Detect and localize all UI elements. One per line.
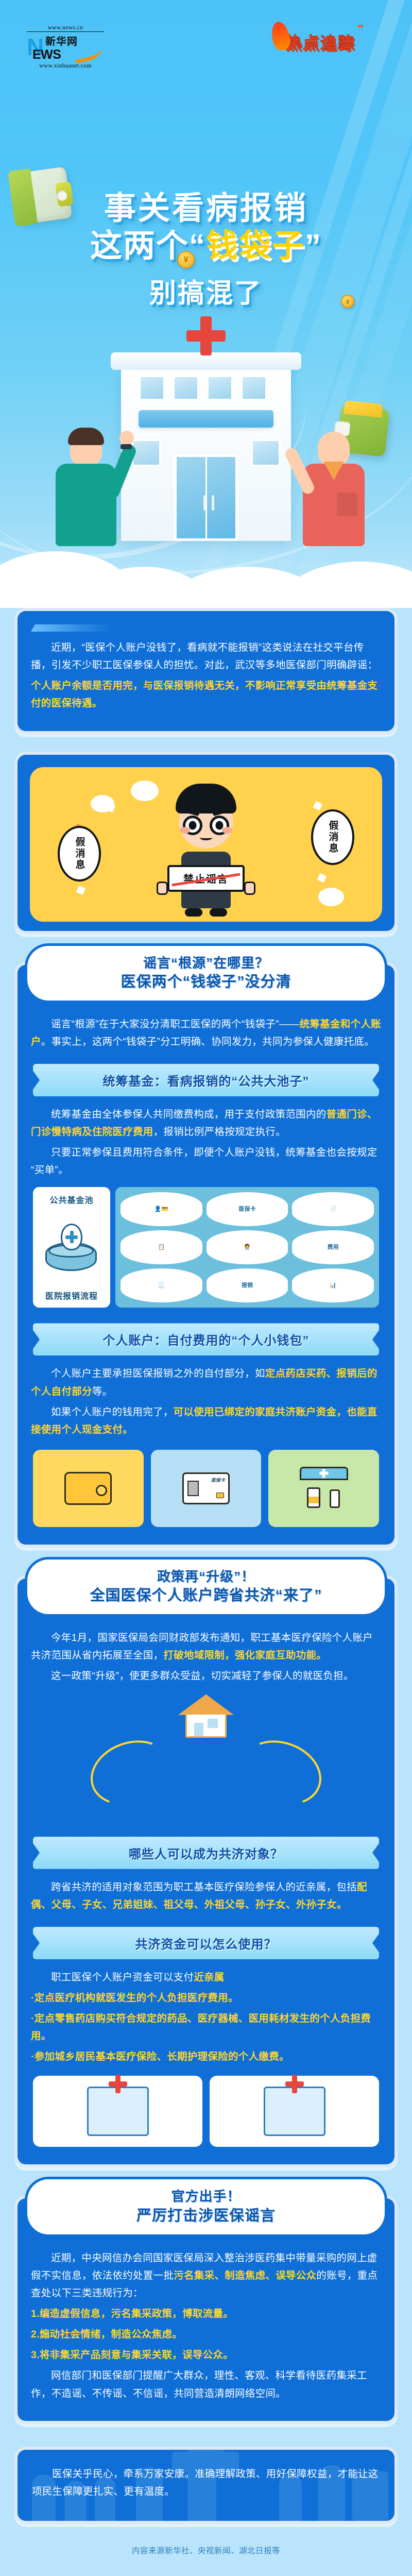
section-2-sub1-title: 哪些人可以成为共济对象？ [129, 1848, 283, 1861]
hero-title-line3: 别搞混了 [0, 272, 412, 310]
section-2-card: 政策再“升级”！ 全国医保个人账户跨省共济“来了” 今年1月，国家医保局会同财政… [14, 1575, 398, 2167]
hero-title-block: 事关看病报销 这两个“钱袋子” 别搞混了 [0, 191, 412, 310]
section-2-sub2-title: 共济资金可以怎么使用？ [135, 1938, 277, 1952]
logo-chinese-name: 新华网 [45, 33, 78, 48]
hero-quote-close: ” [305, 228, 322, 264]
section-1-heading-line2: 医保两个“钱袋子”没分清 [37, 972, 375, 992]
section-2-sub2-ribbon: 共济资金可以怎么使用？ [33, 1927, 379, 1959]
rumor-illustration-card: 假消息 假消息 [14, 752, 398, 934]
sub2-p1-a: 个人账户主要承担医保报销之外的自付部分，如 [51, 1368, 265, 1379]
pool-label-bottom: 医院报销流程 [45, 1289, 98, 1301]
hot-topic-label: 热点追踪 [285, 30, 355, 53]
intro-card: 近期，“医保个人账户没钱了，看病就不能报销”这类说法在社交平台传播，引发不少职工… [14, 608, 398, 734]
hero-quote-open: “ [189, 228, 206, 264]
logo-letters-ews: EWS [32, 47, 61, 62]
hospital-box-icon [33, 2076, 202, 2147]
section-3-heading: 官方出手！ 严厉打击涉医保谣言 [25, 2177, 387, 2236]
hero-title-line1: 事关看病报销 [0, 191, 412, 226]
tile-card-label: 医保卡 [211, 1477, 225, 1483]
sub2-p2-a: 如果个人账户的钱用完了， [51, 1406, 174, 1418]
section-2-sub2-item-2: ·定点零售药店购买符合规定的药品、医疗器械、医用耗材发生的个人负担费用。 [31, 2010, 381, 2045]
no-rumor-sign: 禁止谣言 [167, 865, 245, 892]
subsection-2-title: 个人账户：自付费用的“个人小钱包” [103, 1334, 310, 1348]
hero-banner: www.news.cn N 新华网 EWS www.xinhuanet.com … [0, 0, 412, 608]
exchange-arrows-icon [33, 1739, 379, 1801]
reimbursement-icon-grid: 👤💳 医保卡 📄 📋 🧑‍⚕️ 费用 🧾 报销 📊 [115, 1187, 379, 1308]
section-3-list-item-3: 3.将非集采产品刻意与集采关联，误导公众。 [31, 2346, 381, 2364]
payment-methods-tiles: 医保卡 [33, 1450, 379, 1527]
rumor-boy-illustration: 假消息 假消息 [30, 767, 382, 922]
section-2-heading: 政策再“升级”！ 全国医保个人账户跨省共济“来了” [25, 1557, 387, 1617]
hero-title-line2: 这两个“钱袋子” [0, 228, 412, 264]
icon-label-insurance-card: 医保卡 [238, 1206, 255, 1213]
cloud-decoration [0, 531, 412, 608]
logo-url-bottom: www.xinhuanet.com [27, 63, 104, 69]
tile-insurance-card: 医保卡 [151, 1450, 262, 1527]
footer-source: 内容来源新华社、央视新闻、湖北日报等 [14, 2545, 398, 2556]
section-3-heading-line1: 官方出手！ [37, 2188, 375, 2206]
sec3-p1-highlight: 污名集采、制造焦虑、误导公众 [174, 2270, 316, 2281]
doctor-desk-icon: 🧑‍⚕️ [207, 1230, 288, 1264]
hospital-scene-illustration [0, 361, 412, 608]
insurance-card-icon: 医保卡 [207, 1192, 288, 1226]
logo-mark: N 新华网 EWS [27, 32, 104, 62]
wallet-cash-icon [64, 1472, 112, 1505]
subsection-2-paragraph-2: 如果个人账户的钱用完了，可以使用已绑定的家庭共济账户资金，也能直接使用个人现金支… [31, 1403, 381, 1438]
section-1-intro-a: 谣言“根源”在于大家没分清职工医保的两个“钱袋子”—— [51, 1019, 300, 1030]
intro-paragraph-highlight: 个人账户余额是否用完，与医保报销待遇无关，不影响正常享受由统筹基金支付的医保待遇… [31, 677, 381, 712]
money-stack-icon: 🧾 [121, 1268, 202, 1302]
logo-url-top: www.news.cn [27, 25, 104, 32]
pharmacy-icon [300, 1467, 348, 1510]
speech-bubble-left: 假消息 [58, 826, 101, 882]
section-3-heading-line2: 严厉打击涉医保谣言 [37, 2206, 375, 2226]
speech-bubble-right-text: 假消息 [326, 820, 340, 854]
sub1-p1-b: ，报销比例严格按规定执行。 [153, 1126, 286, 1138]
subsection-1-paragraph-1: 统筹基金由全体参保人共同缴费构成，用于支付政策范围内的普通门诊、门诊慢特病及住院… [31, 1106, 381, 1141]
intro-paragraph-plain: 近期，“医保个人账户没钱了，看病就不能报销”这类说法在社交平台传播，引发不少职工… [31, 639, 381, 674]
closing-quote-card: 医保关乎民心，牵系万家安康。准确理解政策、用好保障权益，才能让这项民生保障更扎实… [14, 2447, 398, 2524]
clipboard-icon: 📋 [121, 1230, 202, 1264]
icon-label-fee: 费用 [328, 1244, 339, 1251]
subsection-1-paragraph-2: 只要正常参保且费用符合条件，即便个人账户没钱，统筹基金也会按规定“买单”。 [31, 1144, 381, 1179]
red-cross-icon [186, 316, 226, 355]
content-area: 近期，“医保个人账户没钱了，看病就不能报销”这类说法在社交平台传播，引发不少职工… [0, 608, 412, 2576]
hero-title-prefix: 这两个 [90, 228, 189, 264]
subsection-1-title-ribbon: 统筹基金：看病报销的“公共大池子” [33, 1064, 379, 1096]
hero-title-keyword: 钱袋子 [206, 228, 305, 264]
hospital-door [174, 454, 238, 541]
speech-bubble-left-text: 假消息 [73, 837, 87, 871]
person-female-illustration [303, 432, 365, 546]
person-card-icon: 👤💳 [121, 1192, 202, 1226]
footer-credits: 内容来源新华社、央视新闻、湖北日报等 策划：车玉明 王震杰 统筹：荆克 屈绍辉 … [14, 2539, 398, 2576]
sec2-p1-highlight: 打破地域限制，强化家庭互助功能。 [163, 1650, 327, 1661]
section-2-paragraph-1: 今年1月，国家医保局会同财政部发布通知，职工基本医疗保险个人账户共济范围从省内拓… [31, 1629, 381, 1664]
section-3-card: 官方出手！ 严厉打击涉医保谣言 近期，中央网信办会同国家医保局深入整治涉医药集中… [14, 2195, 398, 2424]
tile-pharmacy [268, 1450, 379, 1527]
document-icon: 📄 [292, 1192, 374, 1226]
sub1-p1-a: 统筹基金由全体参保人共同缴费构成，用于支付政策范围内的 [51, 1109, 327, 1120]
boy-head-icon [179, 795, 233, 849]
pool-label-top: 公共基金池 [49, 1193, 93, 1206]
section-2-heading-line2: 全国医保个人账户跨省共济“来了” [37, 1586, 375, 1606]
bar-chart-icon: 📊 [292, 1268, 374, 1302]
fund-pool-illustration: 公共基金池 医院报销流程 👤💳 医保卡 📄 📋 🧑‍⚕️ 费用 [33, 1187, 379, 1308]
footer-planner: 策划：车玉明 王震杰 [14, 2573, 398, 2576]
section-2-sub2-item-1: ·定点医疗机构就医发生的个人负担医疗费用。 [31, 1989, 381, 2007]
sub2-p1-b: 等。 [92, 1386, 113, 1397]
subsection-2-paragraph-1: 个人账户主要承担医保报销之外的自付部分，如定点药店买药、报销后的个人自付部分等。 [31, 1365, 381, 1400]
sec2-sub2-lead-a: 职工医保个人账户资金可以支付 [51, 1972, 194, 1983]
reimburse-icon: 报销 [207, 1268, 288, 1302]
spark-icon: ❞ [357, 23, 364, 36]
section-1-intro-b: 。事实上，这两个“钱袋子”分工明确、协同发力，共同为参保人健康托底。 [41, 1036, 374, 1047]
insurance-card-graphic-icon: 医保卡 [182, 1472, 230, 1504]
sec2-sub2-lead-highlight: 近亲属 [194, 1972, 224, 1983]
section-3-list-item-1: 1.编造虚假信息，污名集采政策，博取流量。 [31, 2305, 381, 2323]
section-3-paragraph-2: 网信部门和医保部门提醒广大群众，理性、客观、科学看待医药集采工作，不造谣、不传谣… [31, 2367, 381, 2402]
infographic-page: www.news.cn N 新华网 EWS www.xinhuanet.com … [0, 0, 412, 2576]
section-1-heading: 谣言“根源”在哪里？ 医保两个“钱袋子”没分清 [25, 943, 387, 1003]
section-1-card: 谣言“根源”在哪里？ 医保两个“钱袋子”没分清 谣言“根源”在于大家没分清职工医… [14, 962, 398, 1548]
section-2-paragraph-2: 这一政策“升级”，使更多群众受益，切实减轻了参保人的就医负担。 [31, 1667, 381, 1685]
public-fund-pool-card: 公共基金池 医院报销流程 [33, 1187, 110, 1308]
section-3-list-item-2: 2.煽动社会情绪，制造公众焦虑。 [31, 2326, 381, 2343]
hospital-building [121, 366, 291, 541]
accent-bar-icon [31, 624, 113, 632]
person-male-illustration [56, 432, 116, 546]
tile-cash-wallet [33, 1450, 144, 1527]
pool-graphic-icon [43, 1224, 100, 1271]
fee-receipt-icon: 费用 [292, 1230, 374, 1264]
section-2-sub1-paragraph: 跨省共济的适用对象范围为职工基本医疗保险参保人的近亲属，包括配偶、父母、子女、兄… [31, 1878, 381, 1913]
section-1-heading-line1: 谣言“根源”在哪里？ [37, 954, 375, 972]
subsection-2-title-ribbon: 个人账户：自付费用的“个人小钱包” [33, 1323, 379, 1355]
hospital-pharmacy-illustration [33, 2076, 379, 2147]
icon-label-reimburse: 报销 [242, 1282, 253, 1289]
speech-bubble-right: 假消息 [311, 809, 354, 865]
section-3-paragraph-1: 近期，中央网信办会同国家医保局深入整治涉医药集中带量采购的网上虚假不实信息，依法… [31, 2249, 381, 2302]
section-2-heading-line1: 政策再“升级”！ [37, 1568, 375, 1586]
house-icon [182, 1694, 230, 1738]
hot-topic-badge: ❞ 热点追踪 [285, 30, 355, 53]
family-sharing-diagram [33, 1694, 379, 1823]
xinhuanet-logo[interactable]: www.news.cn N 新华网 EWS www.xinhuanet.com [27, 25, 104, 69]
sec2-sub1-a: 跨省共济的适用对象范围为职工基本医疗保险参保人的近亲属，包括 [51, 1882, 357, 1893]
subsection-1-title: 统筹基金：看病报销的“公共大池子” [103, 1075, 310, 1089]
pharmacy-box-icon [210, 2076, 379, 2147]
section-1-intro: 谣言“根源”在于大家没分清职工医保的两个“钱袋子”——统筹基金和个人账户。事实上… [31, 1015, 381, 1050]
closing-paragraph: 医保关乎民心，牵系万家安康。准确理解政策、用好保障权益，才能让这项民生保障更扎实… [32, 2465, 380, 2500]
section-2-sub2-item-3: ·参加城乡居民基本医疗保险、长期护理保险的个人缴费。 [31, 2048, 381, 2065]
section-2-sub1-ribbon: 哪些人可以成为共济对象？ [33, 1837, 379, 1869]
section-2-sub2-lead: 职工医保个人账户资金可以支付近亲属 [31, 1969, 381, 1986]
